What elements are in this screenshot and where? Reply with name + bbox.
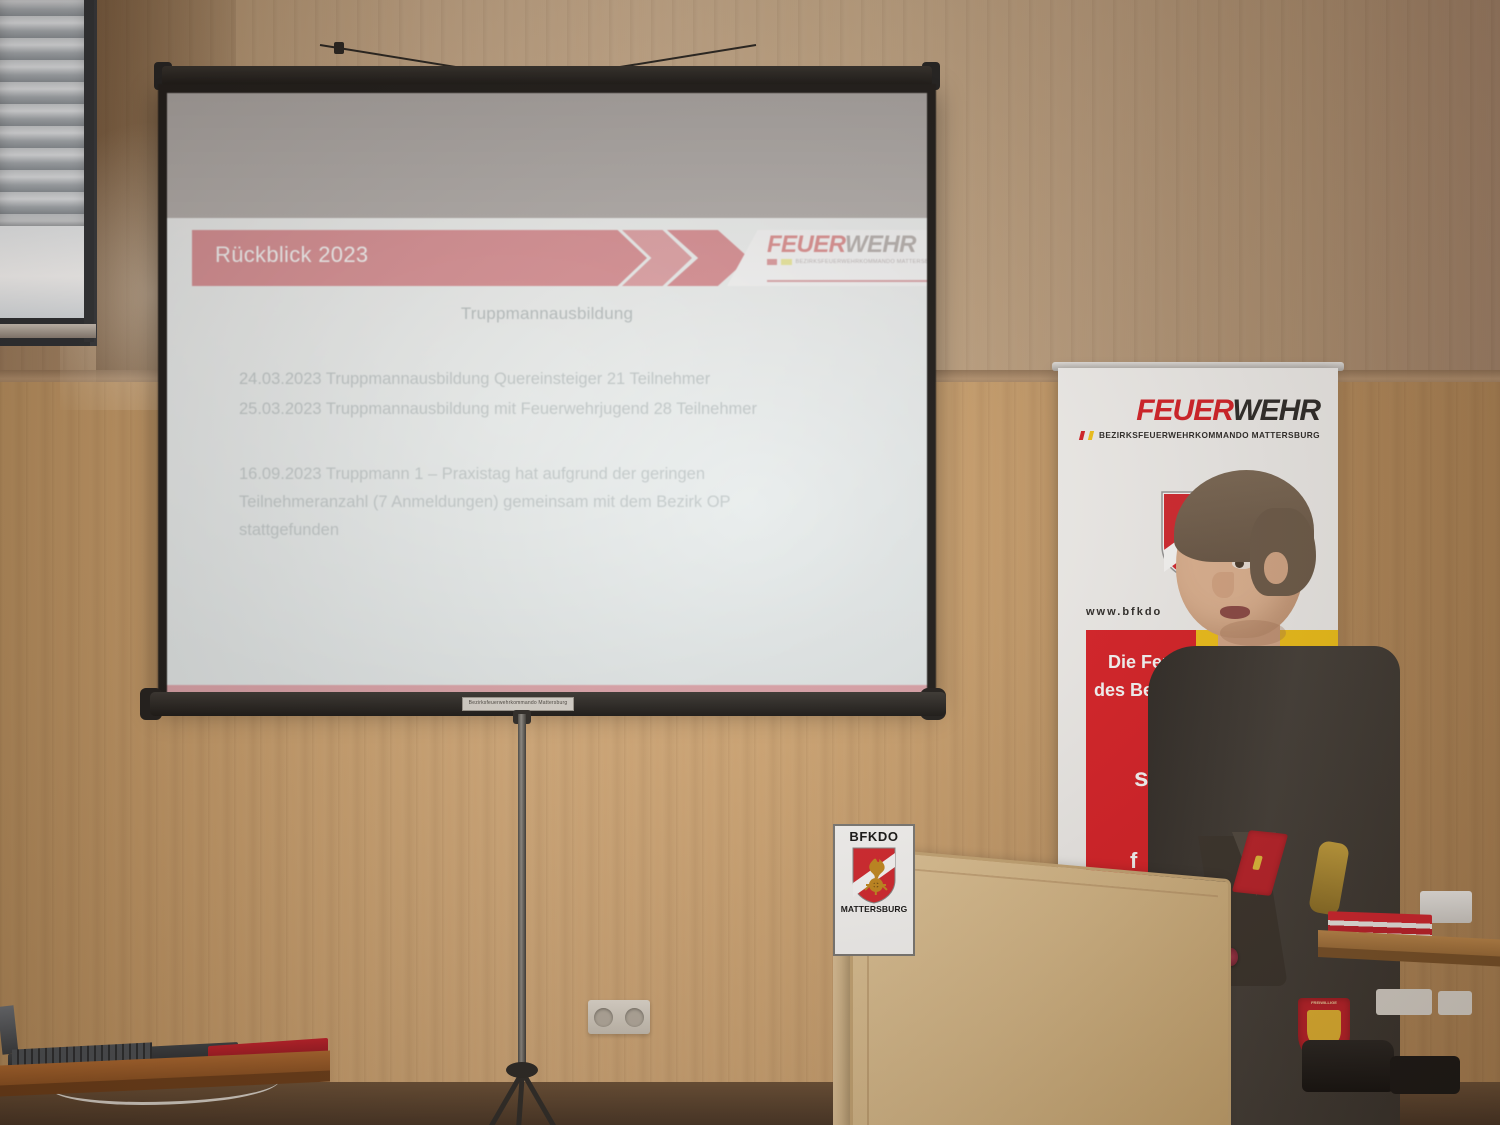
slide-header-rule <box>767 280 927 282</box>
window-sill <box>0 324 96 338</box>
slide-header-band: Rückblick 2023 FEUERWEHR BEZIRKSFEUERWEH… <box>167 230 927 286</box>
bfkdo-sign-title: BFKDO <box>835 829 913 844</box>
screen-unused-area <box>167 93 927 218</box>
slide-logo-feuer: FEUER <box>767 231 845 258</box>
tripod-hub <box>506 1062 538 1078</box>
lectern-bfkdo-sign: BFKDO MATTERSBURG <box>833 824 915 956</box>
slide-paragraph: 16.09.2023 Truppmann 1 – Praxistag hat a… <box>239 460 799 544</box>
bfkdo-sign-location: MATTERSBURG <box>835 904 913 914</box>
window-frame <box>84 0 94 342</box>
banner-logo-bar-yellow <box>1088 431 1095 440</box>
window-blinds <box>0 0 90 226</box>
slide-title: Rückblick 2023 <box>215 242 368 268</box>
lectern-panel-inset <box>867 864 1218 1125</box>
socket-outlet-left <box>594 1008 613 1027</box>
left-table <box>0 1066 330 1125</box>
slide-feuerwehr-logo: FEUERWEHR BEZIRKSFEUERWEHRKOMMANDO MATTE… <box>767 233 927 265</box>
banner-logo-bar-red <box>1079 431 1086 440</box>
socket-outlet-right <box>625 1008 644 1027</box>
rank-pip <box>1252 855 1263 870</box>
banner-logo-wehr: WEHR <box>1232 394 1320 427</box>
bfkdo-shield-icon <box>851 846 897 904</box>
power-socket <box>588 1000 650 1034</box>
slide-logo-subtitle: BEZIRKSFEUERWEHRKOMMANDO MATTERSBURG <box>796 259 928 265</box>
slide-logo-bar-red <box>767 259 777 265</box>
tripod-pole <box>518 714 526 1074</box>
right-wall-socket-secondary <box>1438 991 1472 1015</box>
uniform-epaulette <box>1308 840 1350 916</box>
window-daylight <box>0 226 90 318</box>
screen-hanger-knob <box>334 42 344 54</box>
slide-subtitle: Truppmannausbildung <box>167 304 927 324</box>
conference-room-photo: Rückblick 2023 FEUERWEHR BEZIRKSFEUERWEH… <box>0 0 1500 1125</box>
window <box>0 0 97 346</box>
banner-logo-subtitle: BEZIRKSFEUERWEHRKOMMANDO MATTERSBURG <box>1099 430 1320 440</box>
banner-logo-subtitle-row: BEZIRKSFEUERWEHRKOMMANDO MATTERSBURG <box>1080 430 1320 440</box>
slide-line-1: 24.03.2023 Truppmannausbildung Quereinst… <box>239 364 879 394</box>
right-wall-socket <box>1376 989 1432 1015</box>
projection-screen-assembly: Rückblick 2023 FEUERWEHR BEZIRKSFEUERWEH… <box>128 42 938 742</box>
screen-top-bar <box>162 66 932 86</box>
banner-feuerwehr-logo: FEUERWEHR BEZIRKSFEUERWEHRKOMMANDO MATTE… <box>1080 396 1320 440</box>
presentation-slide: Rückblick 2023 FEUERWEHR BEZIRKSFEUERWEH… <box>167 218 927 713</box>
presenter-mouth <box>1220 606 1250 619</box>
presenter-ear <box>1264 552 1288 584</box>
presenter-chin-shadow <box>1220 620 1286 646</box>
slide-logo-bar-yellow <box>781 259 791 265</box>
presenter-hair-side <box>1250 508 1316 596</box>
slide-line-2: 25.03.2023 Truppmannausbildung mit Feuer… <box>239 394 879 424</box>
slide-logo-wordmark: FEUERWEHR <box>767 233 927 257</box>
floor-bag-secondary <box>1390 1056 1460 1094</box>
slide-logo-subtitle-row: BEZIRKSFEUERWEHRKOMMANDO MATTERSBURG <box>767 259 927 265</box>
banner-logo-wordmark: FEUERWEHR <box>1080 396 1320 426</box>
projection-surface: Rückblick 2023 FEUERWEHR BEZIRKSFEUERWEH… <box>158 84 936 704</box>
banner-logo-feuer: FEUER <box>1136 394 1232 427</box>
slide-logo-wehr: WEHR <box>845 231 916 258</box>
right-table <box>1318 935 1500 1005</box>
presenter-nose <box>1212 572 1234 598</box>
screen-equipment-label: Bezirksfeuerwehrkommando Mattersburg <box>462 697 574 711</box>
floor-bag <box>1302 1040 1394 1092</box>
slide-body-lines: 24.03.2023 Truppmannausbildung Quereinst… <box>239 364 879 424</box>
lectern: BFKDO MATTERSBURG <box>745 840 1225 1125</box>
